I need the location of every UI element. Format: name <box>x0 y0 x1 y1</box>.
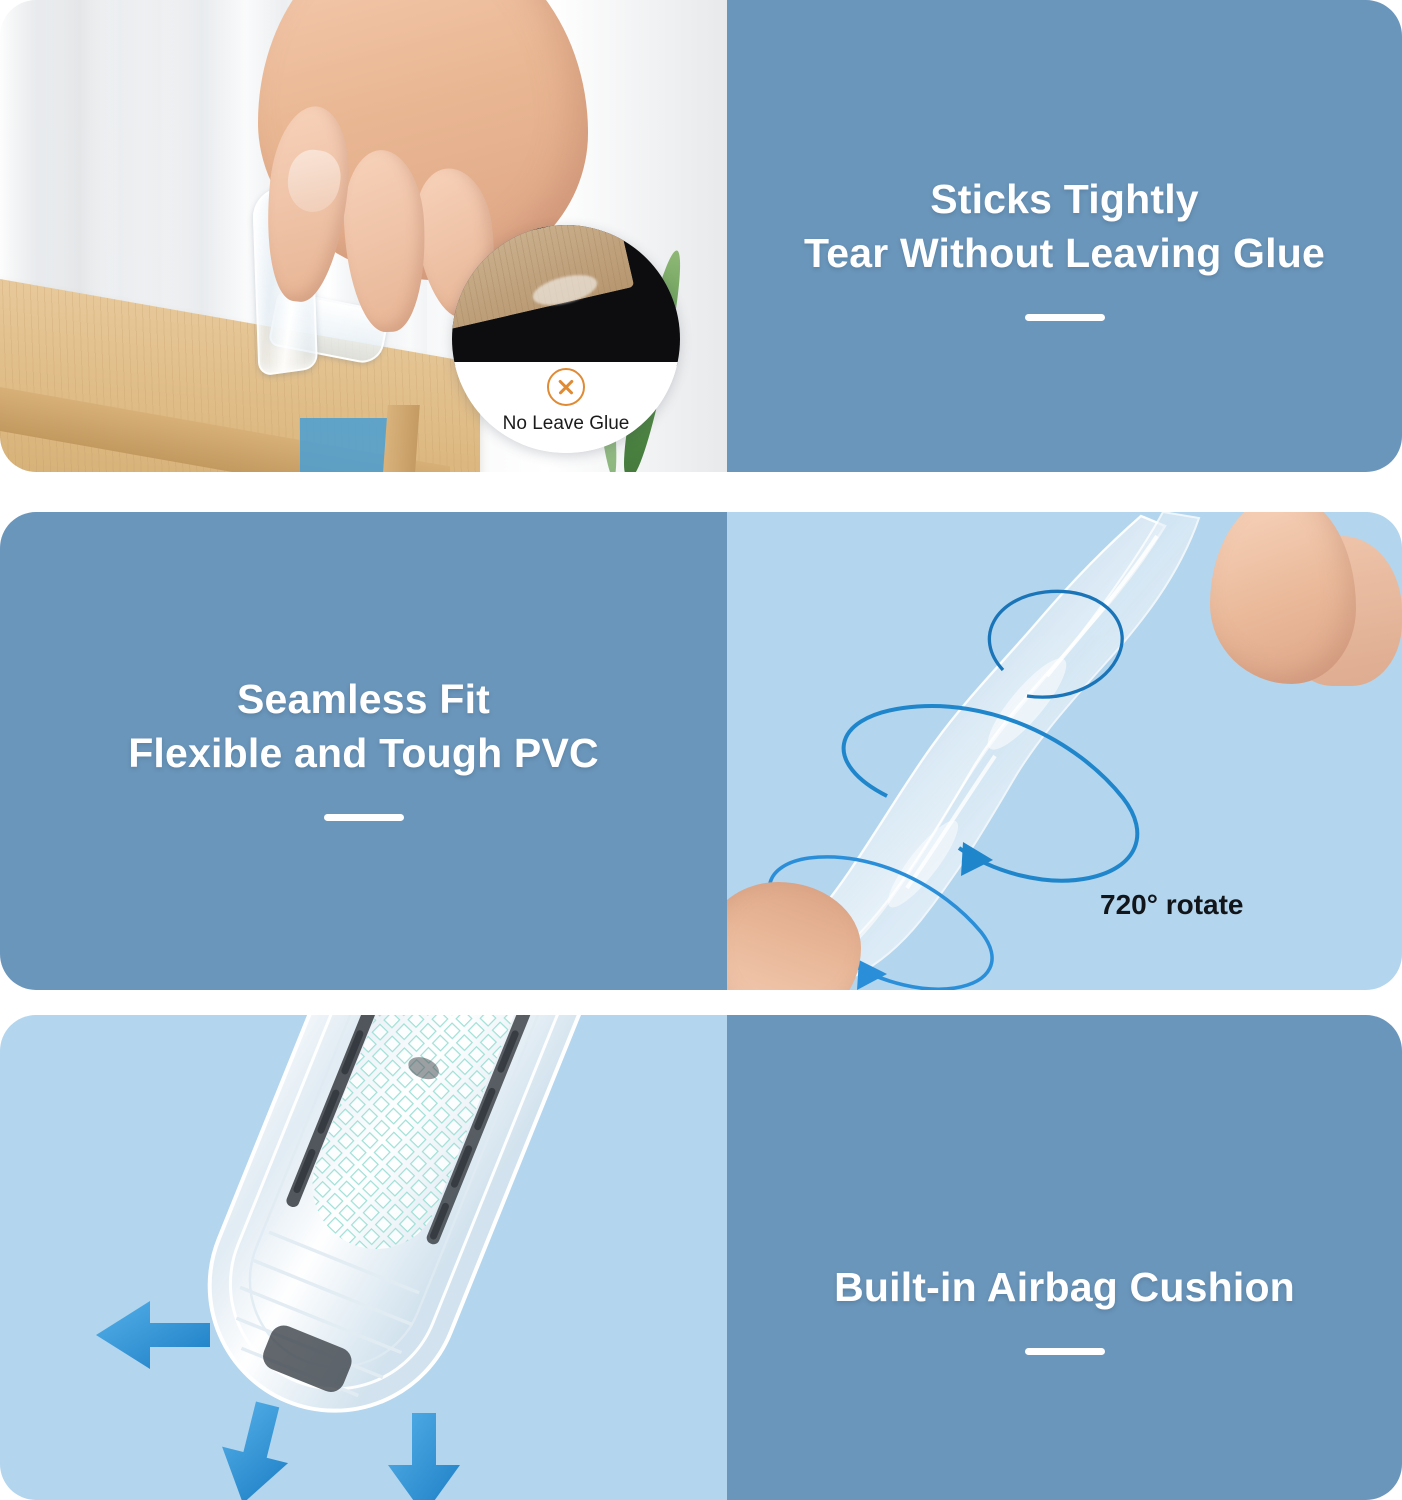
inset-wood-edge <box>452 225 634 329</box>
table-underside-shadow <box>300 418 392 472</box>
circled-x-icon <box>547 368 585 406</box>
photo-backdrop: No Leave Glue <box>0 0 727 472</box>
airbag-illustration-stage <box>0 1015 727 1500</box>
expansion-arrow-down-right <box>388 1413 460 1500</box>
no-glue-label: No Leave Glue <box>503 413 630 435</box>
airbag-corner-guard-graphic <box>0 1015 727 1500</box>
upper-hand <box>1210 512 1356 684</box>
feature-row-2: Seamless Fit Flexible and Tough PVC <box>0 512 1402 990</box>
infographic-board: No Leave Glue Sticks Tightly Tear Withou… <box>0 0 1402 1500</box>
caption-rule <box>1025 1348 1105 1355</box>
wooden-table-leg <box>382 405 420 472</box>
caption-rule <box>1025 314 1105 321</box>
caption-panel-row-3: Built-in Airbag Cushion <box>727 1015 1402 1500</box>
feature-row-1: No Leave Glue Sticks Tightly Tear Withou… <box>0 0 1402 472</box>
caption-line-1: Seamless Fit <box>0 672 727 726</box>
caption-block-row-3: Built-in Airbag Cushion <box>727 1260 1402 1355</box>
caption-line-1: Sticks Tightly <box>727 172 1402 226</box>
twist-illustration-stage: 720° rotate <box>727 512 1402 990</box>
caption-rule <box>324 814 404 821</box>
twisted-pvc-strip-photo: 720° rotate <box>727 512 1402 990</box>
caption-line-2: Flexible and Tough PVC <box>0 726 727 780</box>
caption-panel-row-1: Sticks Tightly Tear Without Leaving Glue <box>727 0 1402 472</box>
caption-line-2: Tear Without Leaving Glue <box>727 226 1402 280</box>
caption-panel-row-2: Seamless Fit Flexible and Tough PVC <box>0 512 727 990</box>
airbag-cushion-closeup-photo <box>0 1015 727 1500</box>
no-glue-inset-badge: No Leave Glue <box>452 225 680 453</box>
corner-guard-body <box>172 1015 629 1448</box>
inset-photo-area <box>452 225 680 366</box>
hand-peeling-corner-protector-photo: No Leave Glue <box>0 0 727 472</box>
caption-block-row-2: Seamless Fit Flexible and Tough PVC <box>0 672 727 821</box>
expansion-arrow-left <box>96 1301 210 1369</box>
caption-block-row-1: Sticks Tightly Tear Without Leaving Glue <box>727 172 1402 321</box>
rotate-annotation-label: 720° rotate <box>1100 889 1244 921</box>
expansion-arrow-down-left <box>210 1396 301 1500</box>
caption-line-1: Built-in Airbag Cushion <box>727 1260 1402 1314</box>
feature-row-3: Built-in Airbag Cushion <box>0 1015 1402 1500</box>
inset-label-zone: No Leave Glue <box>452 362 680 453</box>
